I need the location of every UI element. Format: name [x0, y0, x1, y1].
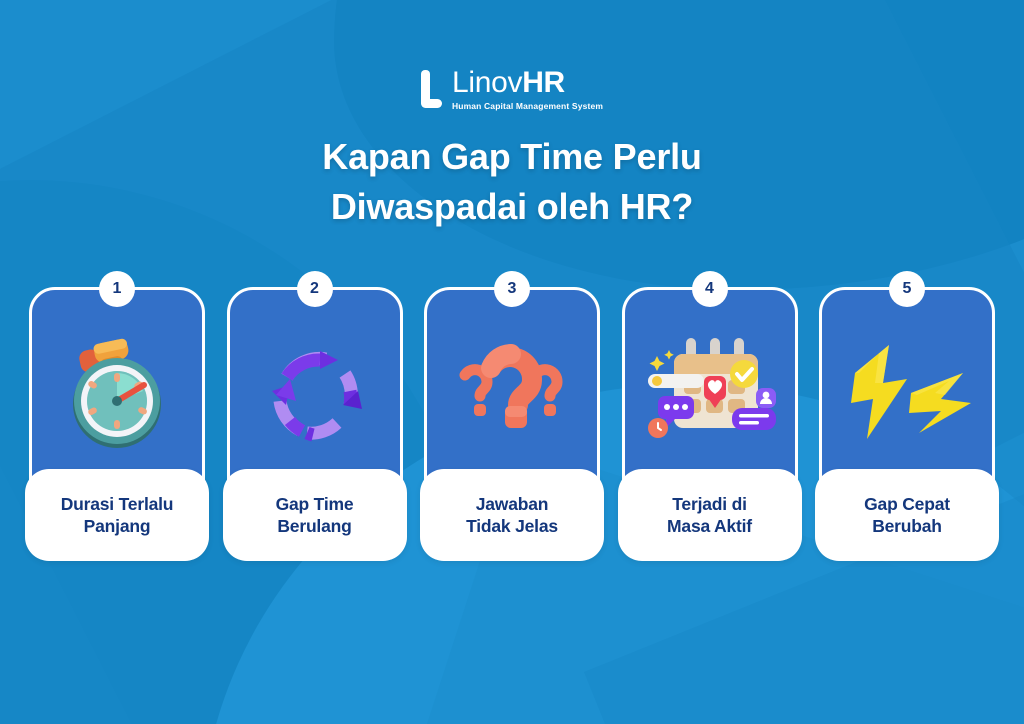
- card-label-line-1: Jawaban: [476, 494, 549, 514]
- card-label-panel: Durasi Terlalu Panjang: [25, 469, 209, 561]
- card-item[interactable]: 4: [622, 271, 798, 561]
- card-number-badge: 4: [692, 271, 728, 307]
- brand-name-light: Linov: [452, 66, 522, 99]
- card-label-line-2: Berulang: [277, 516, 351, 536]
- card-number-badge: 2: [297, 271, 333, 307]
- card-label-line-1: Terjadi di: [672, 494, 747, 514]
- question-marks-icon: [427, 324, 597, 464]
- card-label-line-2: Panjang: [84, 516, 151, 536]
- lightning-bolts-icon: [822, 324, 992, 464]
- linovhr-l-mark-icon: [421, 70, 443, 108]
- card-label-panel: Jawaban Tidak Jelas: [420, 469, 604, 561]
- brand-wordmark: LinovHR: [452, 68, 603, 98]
- card-item[interactable]: 1: [29, 271, 205, 561]
- card-number-badge: 1: [99, 271, 135, 307]
- card-number-badge: 5: [889, 271, 925, 307]
- card-item[interactable]: 3: [424, 271, 600, 561]
- brand-logo: LinovHR Human Capital Management System: [0, 68, 1024, 111]
- brand-tagline: Human Capital Management System: [452, 101, 603, 111]
- card-label-panel: Gap Time Berulang: [223, 469, 407, 561]
- calendar-notifications-icon: [625, 324, 795, 464]
- cards-row: 1: [29, 271, 995, 561]
- card-item[interactable]: 5 Gap Cepat Berubah: [819, 271, 995, 561]
- card-label-panel: Terjadi di Masa Aktif: [618, 469, 802, 561]
- infographic-page: LinovHR Human Capital Management System …: [0, 0, 1024, 724]
- page-title-line-1: Kapan Gap Time Perlu: [322, 136, 701, 177]
- page-title-line-2: Diwaspadai oleh HR?: [331, 186, 693, 227]
- brand-name-bold: HR: [522, 66, 565, 99]
- stopwatch-icon: [32, 324, 202, 464]
- card-label-panel: Gap Cepat Berubah: [815, 469, 999, 561]
- page-title: Kapan Gap Time Perlu Diwaspadai oleh HR?: [0, 132, 1024, 232]
- card-label-line-1: Gap Time: [276, 494, 354, 514]
- card-number-badge: 3: [494, 271, 530, 307]
- card-label-line-1: Gap Cepat: [864, 494, 950, 514]
- card-label-line-1: Durasi Terlalu: [61, 494, 174, 514]
- card-item[interactable]: 2: [227, 271, 403, 561]
- card-label-line-2: Masa Aktif: [667, 516, 752, 536]
- card-label-line-2: Tidak Jelas: [466, 516, 558, 536]
- card-label-line-2: Berubah: [872, 516, 942, 536]
- circular-arrows-icon: [230, 324, 400, 464]
